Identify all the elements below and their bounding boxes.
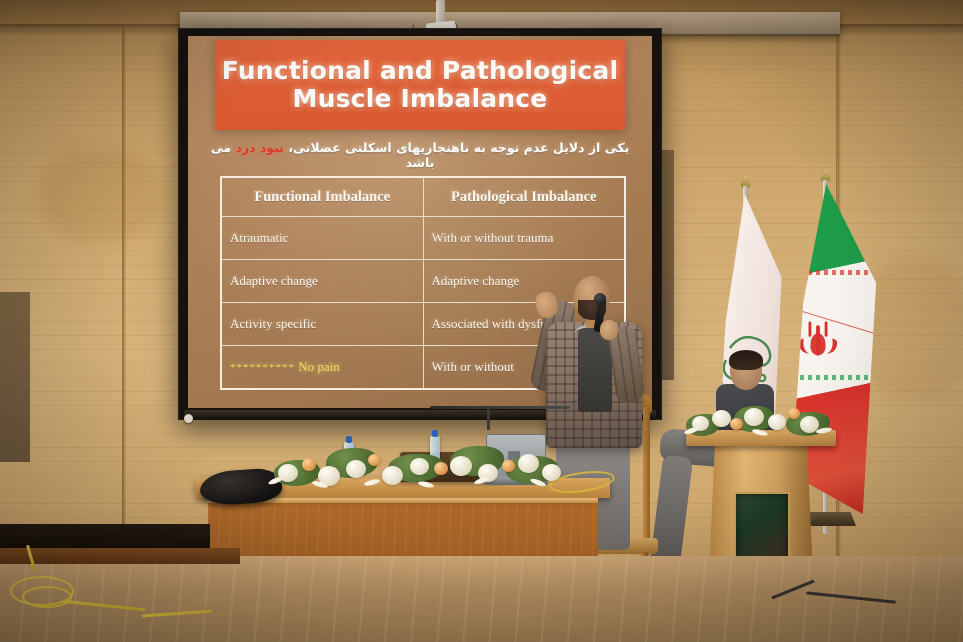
boom-mic-stand[interactable] <box>430 406 570 409</box>
flower-bloom <box>542 464 561 481</box>
wood-floor <box>0 556 963 642</box>
flower-bloom <box>788 408 800 419</box>
slide-subtitle-persian: یکی از دلایل عدم توجه به ناهنجاریهای اسک… <box>200 140 640 170</box>
slide-title-banner: Functional and Pathological Muscle Imbal… <box>215 40 625 130</box>
wall-blotch <box>700 70 840 170</box>
flower-bloom <box>382 466 403 485</box>
flower-bloom <box>302 458 316 471</box>
flower-bloom <box>744 408 764 426</box>
lily-petal <box>418 480 435 488</box>
flower-bloom <box>730 418 743 430</box>
mic-stand-post <box>487 408 490 430</box>
chair-stile <box>643 406 650 556</box>
no-pain-label: No pain <box>298 359 340 374</box>
flag-kufic-band <box>784 375 880 380</box>
slide-title-line2: Muscle Imbalance <box>293 85 548 113</box>
table-cell-functional: Adaptive change <box>221 260 423 303</box>
seated-hair <box>729 350 763 370</box>
flower-bloom <box>768 414 786 430</box>
wall-blotch <box>40 150 160 240</box>
lily-petal <box>364 478 381 487</box>
lily-petal <box>752 428 769 437</box>
yellow-cable-loop <box>22 586 72 608</box>
baseboard <box>0 548 240 564</box>
desk-floral-arrangement <box>268 438 568 494</box>
flower-bloom <box>434 462 448 475</box>
screen-pull-knob <box>184 414 193 423</box>
table-row: Atraumatic With or without trauma <box>221 217 625 260</box>
podium-floral-arrangement <box>682 398 842 442</box>
table-cell-functional: Activity specific <box>221 303 423 346</box>
flower-bloom <box>450 456 472 476</box>
microphone-head <box>594 293 606 305</box>
flower-bloom <box>502 460 515 472</box>
table-row: Adaptive change Adaptive change <box>221 260 625 303</box>
presenter-right-hand <box>600 320 618 340</box>
flower-bloom <box>712 410 731 427</box>
floor-planks <box>0 556 963 642</box>
lily-petal <box>474 476 491 486</box>
flower-bloom <box>410 458 429 475</box>
table-header-row: Functional Imbalance Pathological Imbala… <box>221 177 625 217</box>
table-cell-functional-nopain: ********** No pain <box>221 346 423 390</box>
flag-kufic-band <box>784 270 880 275</box>
flower-bloom <box>368 454 381 466</box>
subtitle-highlight: نبود درد <box>235 140 283 155</box>
emphasis-stars: ********** <box>230 362 295 374</box>
subtitle-part-before: یکی از دلایل عدم توجه به ناهنجاریهای اسک… <box>284 140 629 155</box>
table-header-pathological: Pathological Imbalance <box>423 177 625 217</box>
wall-frame-left <box>0 292 30 462</box>
table-cell-functional: Atraumatic <box>221 217 423 260</box>
flower-bloom <box>518 454 539 473</box>
flower-bloom <box>346 460 366 478</box>
lecture-hall-scene: Functional and Pathological Muscle Imbal… <box>0 0 963 642</box>
table-header-functional: Functional Imbalance <box>221 177 423 217</box>
table-cell-pathological: With or without trauma <box>423 217 625 260</box>
slide-title-line1: Functional and Pathological <box>222 57 618 85</box>
